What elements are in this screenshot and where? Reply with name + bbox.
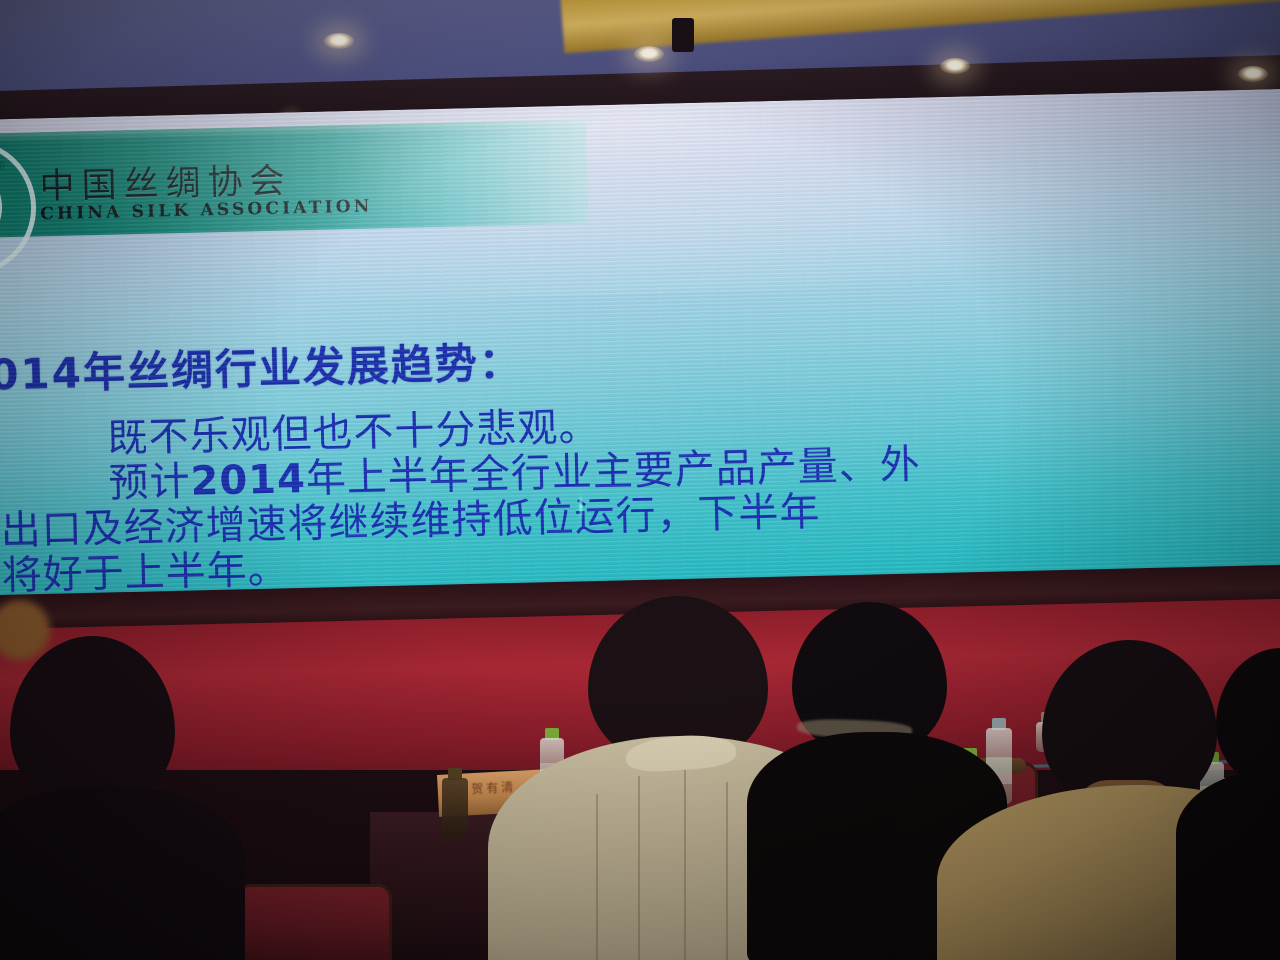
slide-line-2-bold: 2014: [190, 456, 306, 505]
conference-photo: ® 中国丝绸协会 CHINA SILK ASSOCIATION 2014年丝绸行…: [0, 0, 1280, 960]
person-torso: [0, 786, 245, 960]
water-bottle[interactable]: [442, 768, 468, 838]
projection-screen: ® 中国丝绸协会 CHINA SILK ASSOCIATION 2014年丝绸行…: [0, 88, 1280, 640]
laser-pointer-icon: [579, 494, 583, 520]
ceiling-speaker-icon: [672, 18, 694, 52]
downlight-icon: [940, 58, 970, 74]
downlight-icon: [324, 33, 354, 49]
downlight-icon: [1238, 66, 1268, 82]
slide-line-2-pre: 预计: [108, 459, 191, 507]
downlight-icon: [634, 46, 664, 62]
registered-trademark-icon: ®: [0, 159, 6, 174]
audience-chair[interactable]: [236, 884, 392, 960]
slide-header-band: ® 中国丝绸协会 CHINA SILK ASSOCIATION: [0, 119, 589, 238]
